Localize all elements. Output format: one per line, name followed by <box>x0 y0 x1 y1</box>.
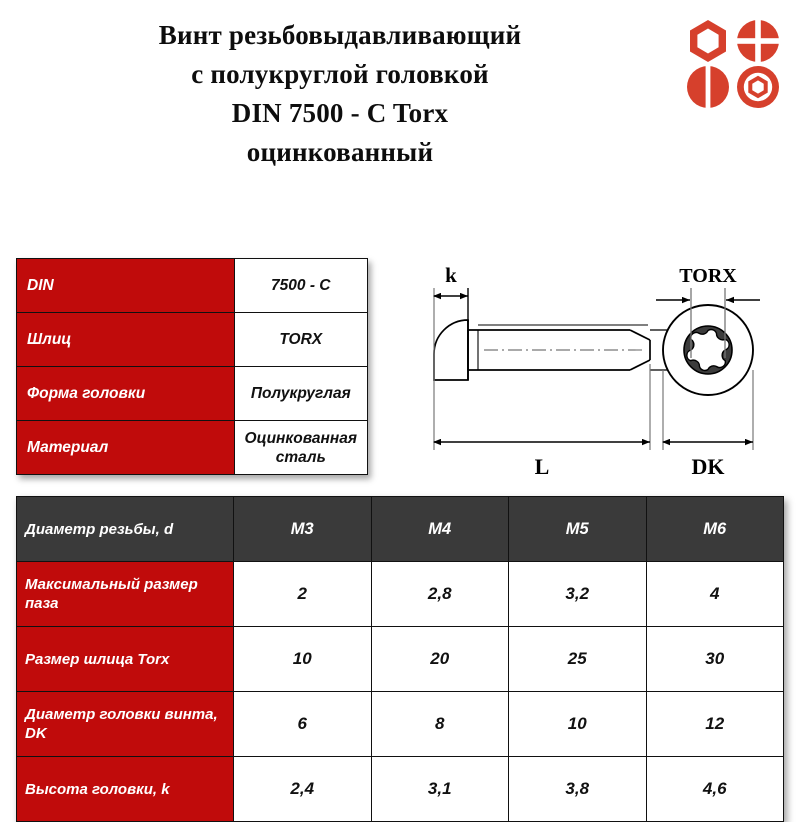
title-line-3: DIN 7500 - C Torx <box>40 94 640 133</box>
spec-cell: 10 <box>234 627 372 692</box>
table-header-row: Диаметр резьбы, d M3 M4 M5 M6 <box>17 497 784 562</box>
spec-row-label-head-diameter: Диаметр головки винта, DK <box>17 692 234 757</box>
info-value-din: 7500 - C <box>234 259 367 313</box>
title-line-1: Винт резьбовыдавливающий <box>40 16 640 55</box>
spec-cell: 6 <box>234 692 372 757</box>
spec-cell: 3,1 <box>371 757 509 822</box>
side-view-screw <box>434 320 650 380</box>
table-row: DIN 7500 - C <box>17 259 368 313</box>
info-label-din: DIN <box>17 259 235 313</box>
table-row: Размер шлица Torx 10 20 25 30 <box>17 627 784 692</box>
title-line-4: оцинкованный <box>40 133 640 172</box>
info-table: DIN 7500 - C Шлиц TORX Форма головки Пол… <box>16 258 368 475</box>
dimension-label-L: L <box>535 454 550 479</box>
spec-column-m4: M4 <box>371 497 509 562</box>
spec-column-m6: M6 <box>646 497 784 562</box>
info-label-head-shape: Форма головки <box>17 367 235 421</box>
spec-cell: 25 <box>509 627 647 692</box>
spec-cell: 10 <box>509 692 647 757</box>
page-header: Винт резьбовыдавливающий с полукруглой г… <box>0 0 800 210</box>
table-row: Шлиц TORX <box>17 313 368 367</box>
front-view-torx-socket <box>663 305 753 395</box>
fastener-logo <box>686 18 782 110</box>
spec-cell: 2 <box>234 562 372 627</box>
info-label-material: Материал <box>17 421 235 475</box>
hex-outline-icon <box>690 20 726 62</box>
dimension-label-torx: TORX <box>679 265 737 287</box>
spec-cell: 30 <box>646 627 784 692</box>
info-value-drive: TORX <box>234 313 367 367</box>
spec-cell: 8 <box>371 692 509 757</box>
spec-cell: 3,8 <box>509 757 647 822</box>
info-value-head-shape: Полукруглая <box>234 367 367 421</box>
spec-cell: 4,6 <box>646 757 784 822</box>
dimension-label-dk: DK <box>692 454 725 479</box>
circle-straight-slot-icon <box>687 66 729 108</box>
title-line-2: с полукруглой головкой <box>40 55 640 94</box>
circle-cross-slot-icon <box>737 20 779 62</box>
spec-row-label-slot-size: Максимальный размер паза <box>17 562 234 627</box>
spec-row-label-torx-size: Размер шлица Torx <box>17 627 234 692</box>
spec-corner-label: Диаметр резьбы, d <box>17 497 234 562</box>
spec-cell: 20 <box>371 627 509 692</box>
spec-cell: 3,2 <box>509 562 647 627</box>
spec-table: Диаметр резьбы, d M3 M4 M5 M6 Максимальн… <box>16 496 784 822</box>
spec-cell: 2,4 <box>234 757 372 822</box>
table-row: Максимальный размер паза 2 2,8 3,2 4 <box>17 562 784 627</box>
info-label-drive: Шлиц <box>17 313 235 367</box>
info-value-material: Оцинкованная сталь <box>234 421 367 475</box>
technical-drawing: k d L TO <box>398 252 798 484</box>
circle-hex-socket-icon <box>737 66 779 108</box>
table-row: Диаметр головки винта, DK 6 8 10 12 <box>17 692 784 757</box>
table-row: Материал Оцинкованная сталь <box>17 421 368 475</box>
table-row: Высота головки, k 2,4 3,1 3,8 4,6 <box>17 757 784 822</box>
spec-cell: 2,8 <box>371 562 509 627</box>
table-row: Форма головки Полукруглая <box>17 367 368 421</box>
spec-cell: 4 <box>646 562 784 627</box>
spec-row-label-head-height: Высота головки, k <box>17 757 234 822</box>
spec-column-m3: M3 <box>234 497 372 562</box>
page-title: Винт резьбовыдавливающий с полукруглой г… <box>40 16 640 172</box>
spec-column-m5: M5 <box>509 497 647 562</box>
spec-cell: 12 <box>646 692 784 757</box>
dimension-label-k: k <box>445 263 457 287</box>
